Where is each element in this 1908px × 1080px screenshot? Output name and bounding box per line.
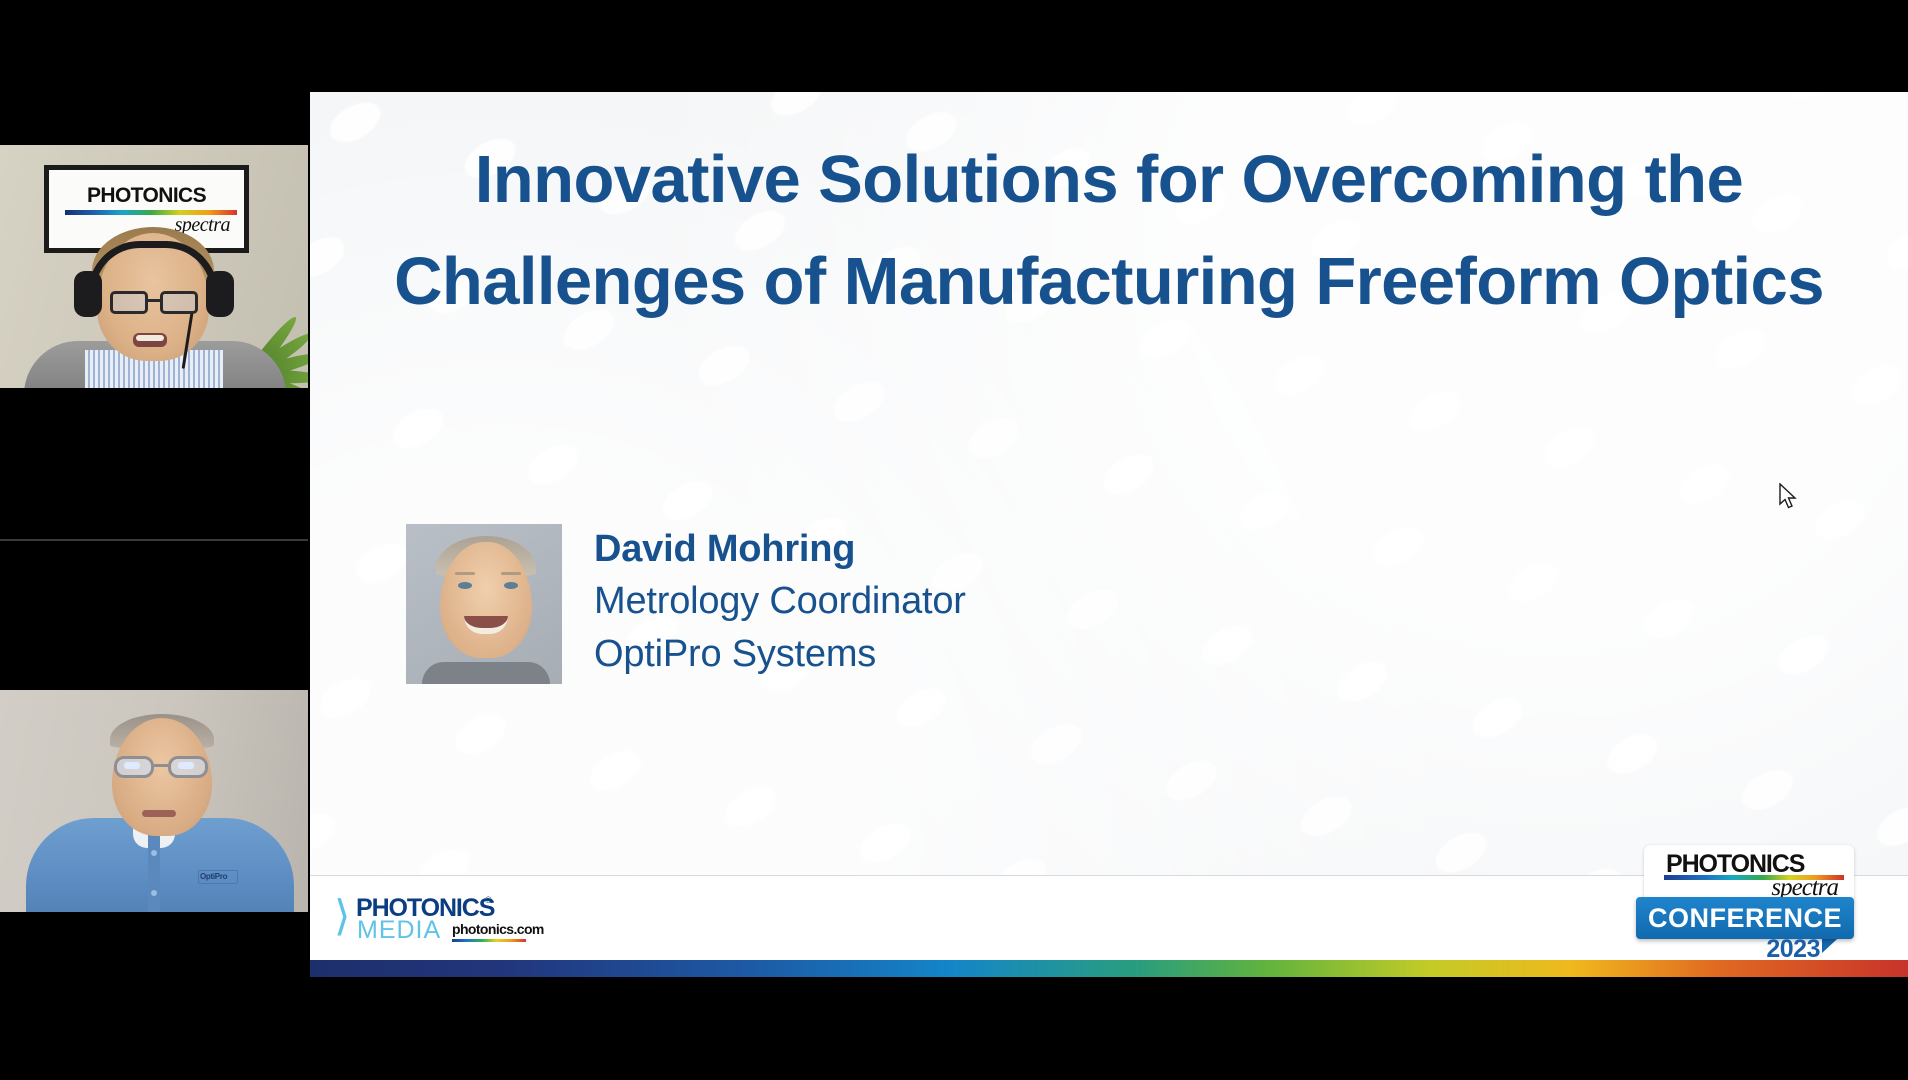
headshot-shirt bbox=[422, 662, 550, 684]
footer-registered-mark: ® bbox=[485, 895, 492, 905]
headset-earcup-right bbox=[206, 271, 234, 317]
screen-root: PHOTONICS spectra bbox=[0, 0, 1908, 1080]
badge-conference-text: CONFERENCE bbox=[1636, 897, 1854, 939]
swoosh-icon: ⟩ bbox=[334, 896, 350, 938]
host-eyeglass-right bbox=[160, 291, 198, 314]
guest-lens-glare-left bbox=[124, 762, 140, 769]
speaker-name: David Mohring bbox=[594, 524, 966, 575]
participant-tile-host[interactable]: PHOTONICS spectra bbox=[0, 145, 308, 388]
host-mouth bbox=[133, 333, 167, 347]
footer-spectrum-underline bbox=[452, 939, 526, 942]
headshot-eyebrow-left bbox=[455, 572, 475, 575]
host-eyeglass-left bbox=[110, 291, 148, 314]
mouse-cursor bbox=[1779, 483, 1799, 511]
footer-media-text: MEDIA bbox=[357, 918, 441, 943]
speaker-headshot-photo bbox=[406, 524, 562, 684]
guest-mouth bbox=[142, 810, 176, 817]
speaker-role: Metrology Coordinator bbox=[594, 575, 966, 627]
presentation-slide[interactable]: Innovative Solutions for Overcoming the … bbox=[310, 92, 1908, 977]
participant-tile-guest[interactable]: OptiPro bbox=[0, 690, 308, 912]
headshot-face bbox=[440, 542, 532, 658]
guest-shirt-button bbox=[151, 850, 157, 856]
footer-website-text: photonics.com bbox=[452, 922, 544, 936]
headshot-eyebrow-right bbox=[501, 572, 521, 575]
slide-title: Innovative Solutions for Overcoming the … bbox=[316, 129, 1902, 333]
speaker-block: David Mohring Metrology Coordinator Opti… bbox=[406, 524, 966, 684]
video-participants-column: PHOTONICS spectra bbox=[0, 0, 308, 1080]
video-tile-divider bbox=[0, 539, 308, 541]
slide-bottom-spectrum-strip bbox=[310, 960, 1908, 977]
speaker-organization: OptiPro Systems bbox=[594, 628, 966, 680]
guest-shirt-logo: OptiPro bbox=[200, 872, 227, 881]
photonics-media-logo: ⟩ PHOTONICS ® MEDIA photonics.com bbox=[334, 894, 518, 942]
headset-earcup-left bbox=[74, 271, 102, 317]
conference-badge: PHOTONICS spectra CONFERENCE 2023 bbox=[1636, 845, 1862, 963]
speaker-details: David Mohring Metrology Coordinator Opti… bbox=[594, 524, 966, 680]
guest-lens-glare-right bbox=[178, 762, 194, 769]
guest-shirt-placket bbox=[148, 830, 160, 912]
poster-photonics-text: PHOTONICS bbox=[87, 184, 206, 208]
headshot-eye-left bbox=[458, 582, 472, 589]
guest-shirt-button bbox=[151, 890, 157, 896]
headshot-eye-right bbox=[504, 582, 518, 589]
guest-eyeglass-bridge bbox=[154, 764, 168, 767]
host-eyeglass-bridge bbox=[148, 299, 160, 302]
